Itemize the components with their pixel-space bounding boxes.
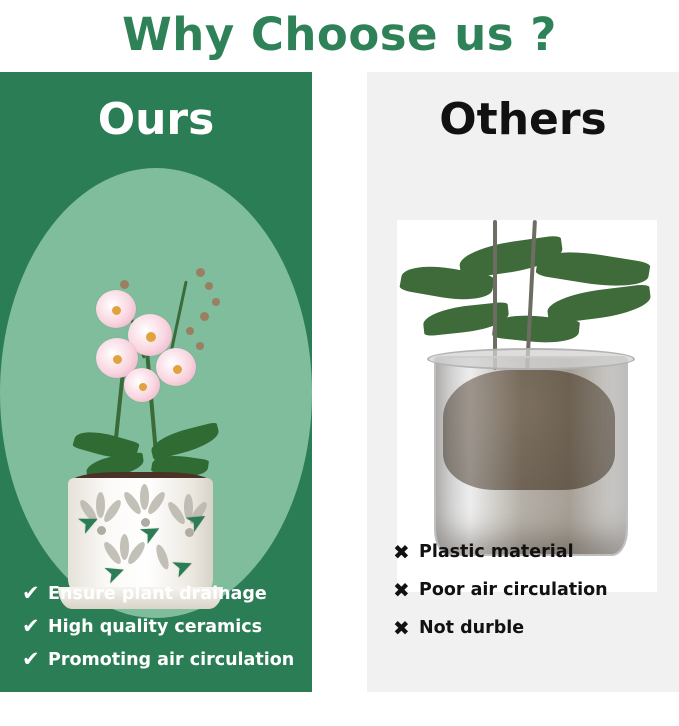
ours-product-image: ➤ ➤ ➤ ➤ ➤	[0, 172, 312, 624]
ours-title: Ours	[0, 94, 312, 145]
cross-icon: ✖	[393, 618, 419, 638]
list-item: ✔ Promoting air circulation	[22, 649, 302, 670]
pot-rim	[427, 348, 635, 370]
cross-icon: ✖	[393, 542, 419, 562]
ours-panel: ➤ ➤ ➤ ➤ ➤ Ours ✔ Ensure plant drainage ✔…	[0, 72, 312, 692]
panel-divider	[312, 72, 367, 692]
list-item-label: Ensure plant drainage	[48, 584, 267, 604]
page-title: Why Choose us ?	[0, 8, 679, 61]
cross-icon: ✖	[393, 580, 419, 600]
comparison-infographic: Why Choose us ?	[0, 0, 679, 726]
others-title: Others	[367, 94, 679, 145]
list-item-label: Poor air circulation	[419, 580, 608, 600]
list-item: ✔ High quality ceramics	[22, 616, 302, 637]
list-item-label: High quality ceramics	[48, 617, 262, 637]
check-icon: ✔	[22, 649, 48, 670]
ours-feature-list: ✔ Ensure plant drainage ✔ High quality c…	[22, 583, 302, 670]
others-product-image	[397, 220, 657, 592]
check-icon: ✔	[22, 616, 48, 637]
plastic-nursery-pot	[434, 356, 628, 556]
list-item-label: Not durble	[419, 618, 524, 638]
list-item: ✔ Ensure plant drainage	[22, 583, 302, 604]
comparison-panels: ➤ ➤ ➤ ➤ ➤ Ours ✔ Ensure plant drainage ✔…	[0, 72, 679, 692]
list-item: ✖ Poor air circulation	[393, 580, 673, 600]
list-item-label: Plastic material	[419, 542, 574, 562]
check-icon: ✔	[22, 583, 48, 604]
list-item-label: Promoting air circulation	[48, 650, 294, 670]
others-panel: Others ✖ Plastic mat	[367, 72, 679, 692]
others-feature-list: ✖ Plastic material ✖ Poor air circulatio…	[393, 542, 673, 656]
list-item: ✖ Not durble	[393, 618, 673, 638]
list-item: ✖ Plastic material	[393, 542, 673, 562]
